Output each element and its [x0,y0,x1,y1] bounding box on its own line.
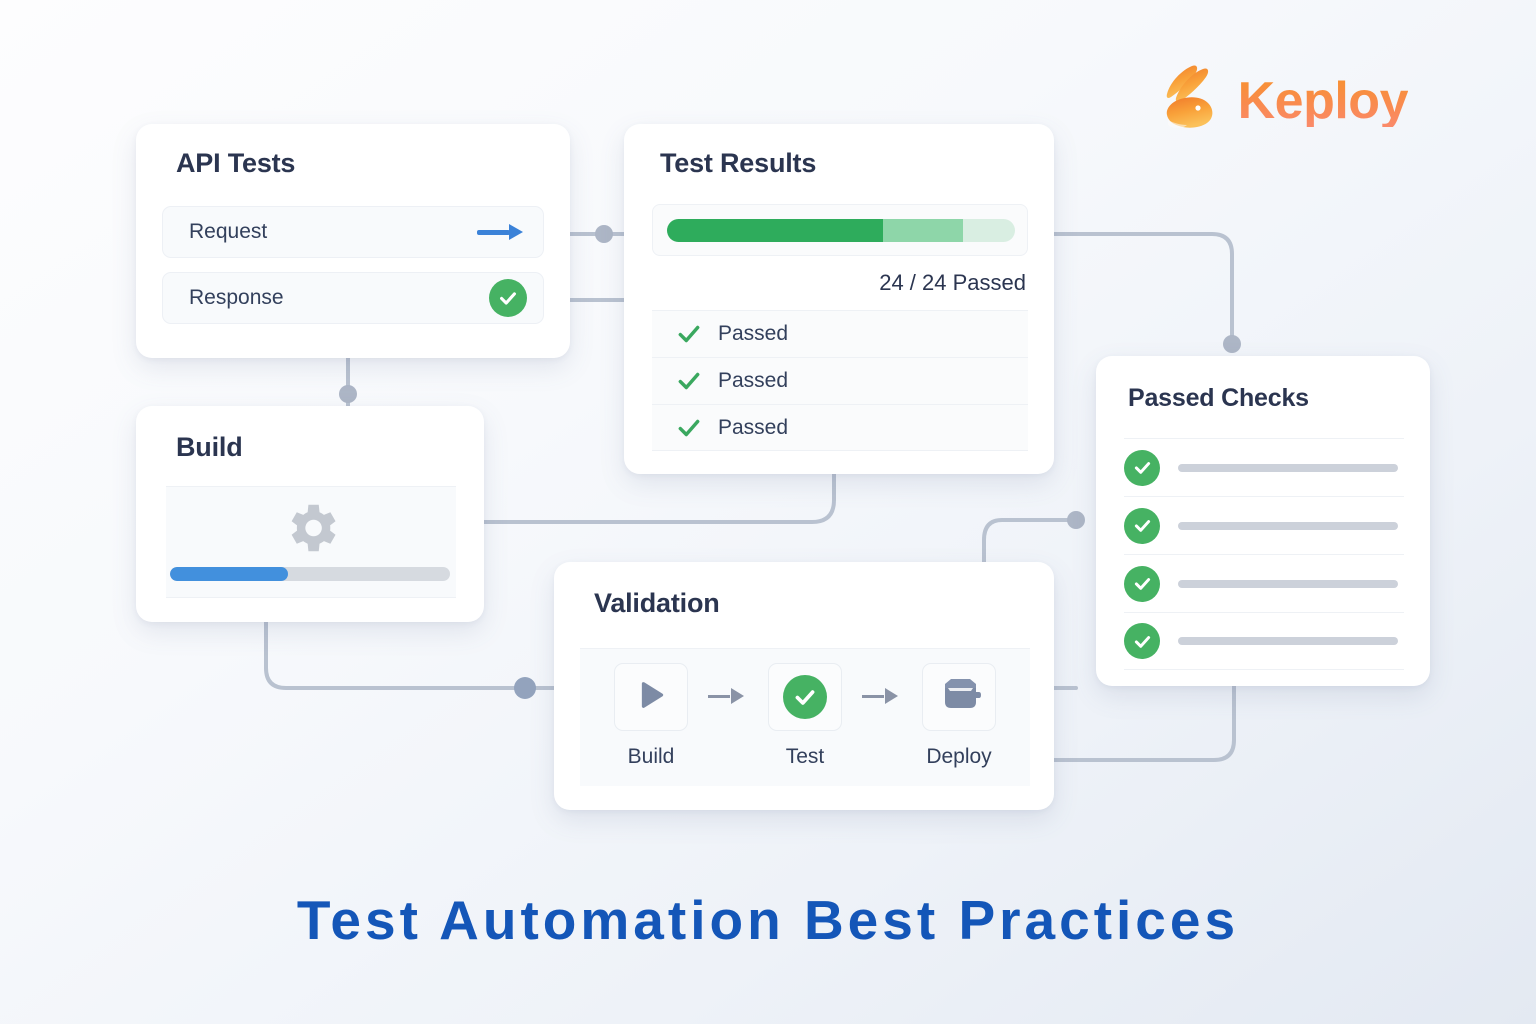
check-circle-icon [1124,566,1160,602]
check-list-item [1124,496,1404,554]
check-list-item [1124,612,1404,670]
wire-build-to-validation [266,622,554,688]
pipeline-arrow-icon [860,663,904,731]
progress-segment-passed [667,219,883,242]
result-row-label: Passed [718,416,788,440]
pipeline-step-build[interactable]: Build [596,663,706,769]
card-title-build: Build [176,432,243,463]
play-icon [633,677,669,718]
placeholder-bar [1178,637,1398,645]
pipeline-step-deploy-label: Deploy [926,745,991,769]
test-progress-bar [667,219,1015,242]
node-dot-api-results [595,225,613,243]
row-response[interactable]: Response [162,272,544,324]
row-request-label: Request [189,220,477,244]
placeholder-bar [1178,522,1398,530]
row-response-label: Response [189,286,489,310]
progress-segment-remaining [963,219,1015,242]
passed-count-label: 24 / 24 Passed [879,270,1026,296]
card-api-tests: API Tests Request Response [136,124,570,358]
pipeline-step-build-label: Build [628,745,675,769]
card-test-results: Test Results 24 / 24 Passed Passed [624,124,1054,474]
progress-frame [652,204,1028,256]
wire-results-to-checks [1054,234,1232,344]
brand-logo: Keploy [1152,62,1408,139]
check-list-item [1124,554,1404,612]
placeholder-bar [1178,464,1398,472]
result-row: Passed [652,357,1028,404]
arrow-right-icon [477,222,523,242]
check-circle-icon [489,279,527,317]
check-circle-icon [783,675,827,719]
check-list-item [1124,438,1404,496]
check-circle-icon [1124,508,1160,544]
pipeline-steps: Build Test [580,648,1030,786]
card-validation: Validation Build [554,562,1054,810]
pipeline-step-test[interactable]: Test [750,663,860,769]
pipeline-step-deploy[interactable]: Deploy [904,663,1014,769]
pipeline-step-test-box [768,663,842,731]
check-circle-icon [1124,623,1160,659]
brand-name: Keploy [1238,75,1408,127]
wire-checks-to-validation [1054,686,1234,760]
progress-segment-mid [883,219,963,242]
build-progress-fill [170,567,288,581]
check-circle-icon [1124,450,1160,486]
row-request[interactable]: Request [162,206,544,258]
build-progress-bar [170,567,450,581]
check-icon [676,321,702,347]
result-row-label: Passed [718,369,788,393]
result-row: Passed [652,404,1028,451]
card-title-validation: Validation [594,588,720,619]
card-build: Build [136,406,484,622]
card-title-test-results: Test Results [660,148,816,179]
card-passed-checks: Passed Checks [1096,356,1430,686]
container-icon [937,675,981,720]
card-title-passed-checks: Passed Checks [1128,384,1309,413]
node-dot-checks-left [1067,511,1085,529]
node-dot-checks-top [1223,335,1241,353]
placeholder-bar [1178,580,1398,588]
pipeline-step-test-label: Test [786,745,825,769]
check-icon [676,415,702,441]
gear-icon [280,497,342,564]
card-title-api-tests: API Tests [176,148,295,179]
pipeline-step-deploy-box [922,663,996,731]
check-icon [676,368,702,394]
rabbit-icon [1152,62,1226,139]
build-panel [166,486,456,598]
page-title: Test Automation Best Practices [0,888,1536,952]
wire-results-to-build [484,474,834,522]
pipeline-arrow-icon [706,663,750,731]
result-row: Passed [652,310,1028,357]
node-dot-build-validation [514,677,536,699]
node-dot-api-build [339,385,357,403]
result-row-label: Passed [718,322,788,346]
diagram-canvas: API Tests Request Response Test Results [0,0,1536,1024]
pipeline-step-build-box [614,663,688,731]
